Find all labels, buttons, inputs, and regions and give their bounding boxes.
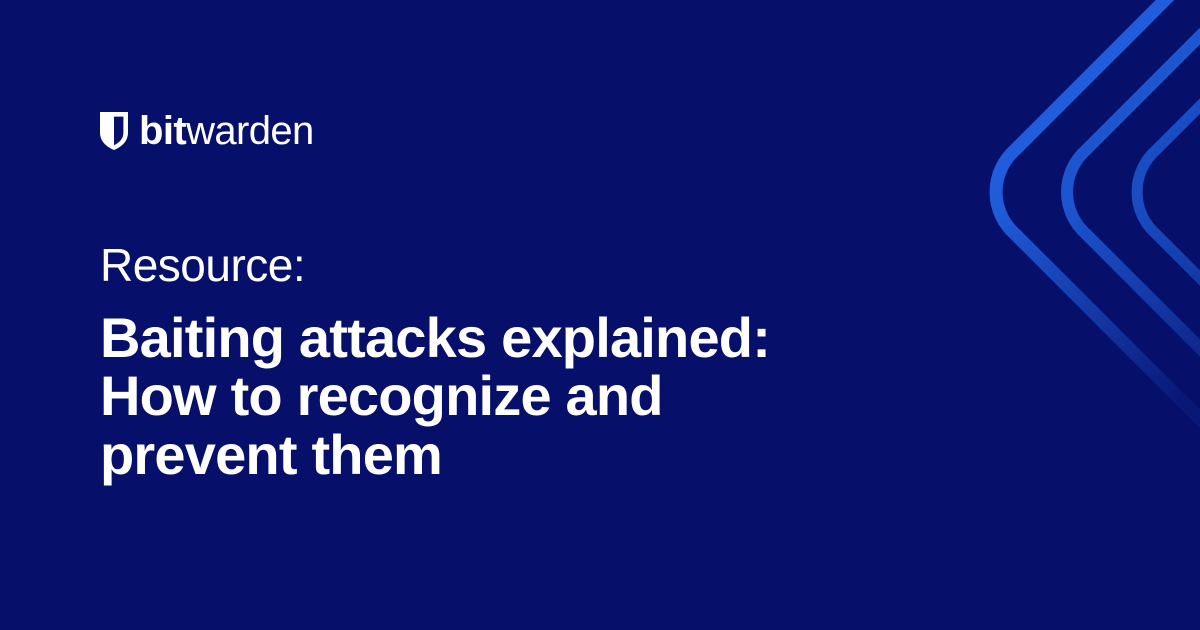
- social-card: bitwarden Resource: Baiting attacks expl…: [0, 0, 1200, 630]
- wordmark-light: warden: [186, 111, 314, 151]
- chevron-2: [1067, 0, 1200, 469]
- headline-line-2: How to recognize and: [100, 367, 860, 426]
- bitwarden-shield-icon: [100, 112, 128, 150]
- headline-line-3: prevent them: [100, 426, 860, 485]
- chevron-1: [996, 0, 1200, 469]
- bitwarden-wordmark: bitwarden: [139, 111, 314, 151]
- eyebrow-label: Resource:: [100, 240, 860, 291]
- chevron-3: [1137, 0, 1200, 469]
- page-title: Baiting attacks explained: How to recogn…: [100, 309, 860, 485]
- wordmark-bold: bit: [139, 111, 186, 151]
- text-block: Resource: Baiting attacks explained: How…: [100, 240, 860, 485]
- bitwarden-logo[interactable]: bitwarden: [100, 108, 314, 154]
- headline-line-1: Baiting attacks explained:: [100, 309, 860, 368]
